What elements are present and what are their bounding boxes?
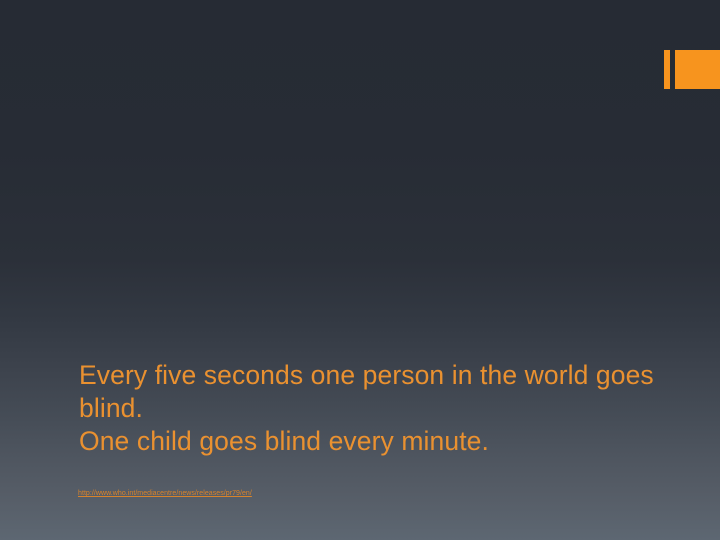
orange-accent-bar-icon (664, 50, 670, 89)
orange-accent-block-icon (675, 50, 720, 89)
slide-canvas: Every five seconds one person in the wor… (0, 0, 720, 540)
slide-headline: Every five seconds one person in the wor… (79, 359, 659, 458)
source-url-link[interactable]: http://www.who.int/mediacentre/news/rele… (78, 489, 252, 499)
